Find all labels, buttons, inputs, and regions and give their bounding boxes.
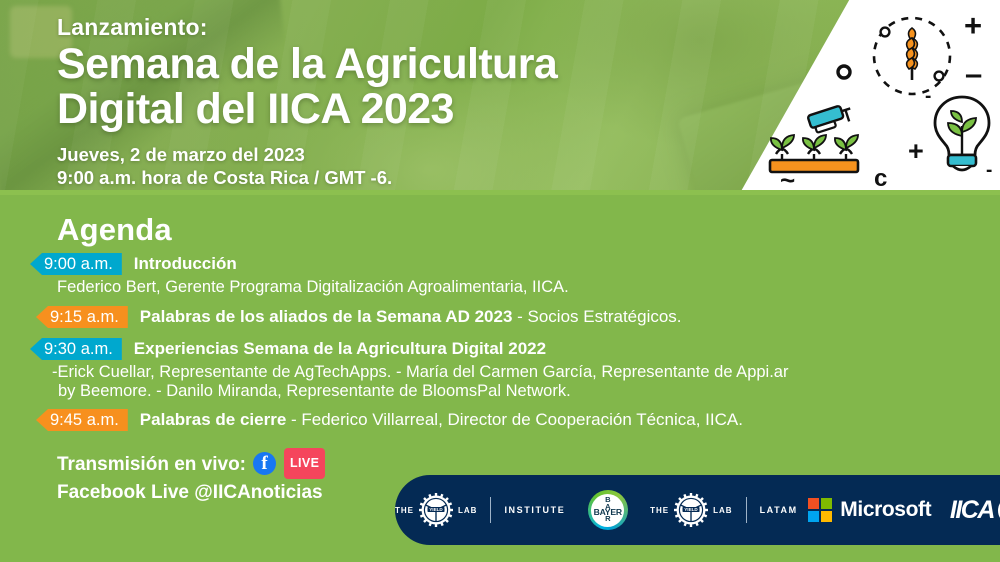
small-circle-icon — [834, 62, 854, 82]
header-banner: + – - + ~ ↄ - — [0, 0, 1000, 193]
header-title-line1: Semana de la Agricultura — [57, 42, 557, 87]
agenda-desc-3b: by Beemore. - Danilo Miranda, Representa… — [0, 382, 1000, 401]
microsoft-wordmark: Microsoft — [840, 498, 931, 522]
live-label-row: Transmisión en vivo:fLIVE — [57, 448, 325, 479]
header-date: Jueves, 2 de marzo del 2023 — [57, 143, 557, 166]
agenda-row-3: 9:30 a.m.Experiencias Semana de la Agric… — [0, 338, 1000, 401]
agenda-title-2: Palabras de los aliados de la Semana AD … — [140, 306, 682, 328]
facebook-icon[interactable]: f — [253, 452, 276, 475]
agenda-time-badge-3: 9:30 a.m. — [30, 338, 122, 360]
svg-text:YIELD: YIELD — [429, 507, 443, 512]
header-kicker: Lanzamiento: — [57, 14, 557, 40]
poster-canvas: + – - + ~ ↄ - — [0, 0, 1000, 562]
sponsor-the-yield-lab-latam[interactable]: THE — [650, 475, 798, 545]
live-label: Transmisión en vivo: — [57, 454, 246, 475]
yield-lab-divider — [490, 497, 491, 523]
sponsor-microsoft[interactable]: Microsoft — [798, 475, 942, 545]
agenda-time-badge-4: 9:45 a.m. — [36, 409, 128, 431]
agenda-row-1: 9:00 a.m.Introducción Federico Bert, Ger… — [0, 253, 1000, 297]
header-text-block: Lanzamiento: Semana de la Agricultura Di… — [57, 14, 557, 190]
bayer-logo-icon: B A Y R BAYER — [588, 490, 628, 530]
sponsor-iica[interactable]: IICA — [942, 475, 1000, 545]
agenda-time-badge-1: 9:00 a.m. — [30, 253, 122, 275]
lightbulb-plant-icon — [926, 92, 998, 178]
header-divider-rule — [0, 190, 1000, 195]
live-stream-block: Transmisión en vivo:fLIVE Facebook Live … — [57, 448, 325, 506]
agenda-title-1: Introducción — [134, 253, 237, 275]
live-badge: LIVE — [284, 448, 325, 479]
loop-icon: ↄ — [874, 165, 887, 193]
agenda-title-3: Experiencias Semana de la Agricultura Di… — [134, 338, 546, 360]
wheat-circle-icon — [866, 10, 958, 102]
yield-lab-the-label: THE — [395, 506, 414, 515]
yield-lab-lab-label: LAB — [458, 506, 477, 515]
yield-lab-latam-divider — [746, 497, 747, 523]
header-icon-cluster: + – - + ~ ↄ - — [740, 0, 1000, 193]
yield-lab-gear-icon: YIELD — [419, 493, 453, 527]
agenda-desc-3: -Erick Cuellar, Representante de AgTechA… — [0, 363, 1000, 382]
agenda-title-4: Palabras de cierre - Federico Villarreal… — [140, 409, 743, 431]
yield-lab-latam-sub-label: LATAM — [760, 505, 798, 515]
sponsor-bar: THE — [395, 475, 1000, 545]
yield-lab-latam-gear-icon: YIELD — [674, 493, 708, 527]
minus-icon: – — [965, 56, 982, 92]
agenda-time-badge-2: 9:15 a.m. — [36, 306, 128, 328]
iica-wordmark: IICA — [950, 496, 994, 525]
yield-lab-sub-label: INSTITUTE — [504, 505, 565, 515]
yield-lab-latam-the-label: THE — [650, 506, 669, 515]
live-handle[interactable]: Facebook Live @IICAnoticias — [57, 479, 325, 506]
header-time: 9:00 a.m. hora de Costa Rica / GMT -6. — [57, 166, 557, 189]
bayer-horizontal-word: BAYER — [591, 507, 624, 517]
microsoft-logo-icon — [808, 498, 832, 522]
header-title-line2: Digital del IICA 2023 — [57, 87, 557, 132]
yield-lab-latam-lab-label: LAB — [713, 506, 732, 515]
seedling-tray-icon — [764, 116, 864, 180]
plus-icon-2: + — [908, 136, 924, 167]
sponsor-the-yield-lab-institute[interactable]: THE — [395, 475, 565, 545]
agenda-row-4: 9:45 a.m.Palabras de cierre - Federico V… — [0, 409, 1000, 431]
plus-icon: + — [964, 8, 982, 44]
agenda-row-2: 9:15 a.m.Palabras de los aliados de la S… — [0, 306, 1000, 328]
agenda-desc-1: Federico Bert, Gerente Programa Digitali… — [0, 278, 1000, 297]
sponsor-bayer[interactable]: B A Y R BAYER — [565, 475, 650, 545]
agenda-heading: Agenda — [57, 212, 172, 248]
svg-text:YIELD: YIELD — [684, 507, 698, 512]
